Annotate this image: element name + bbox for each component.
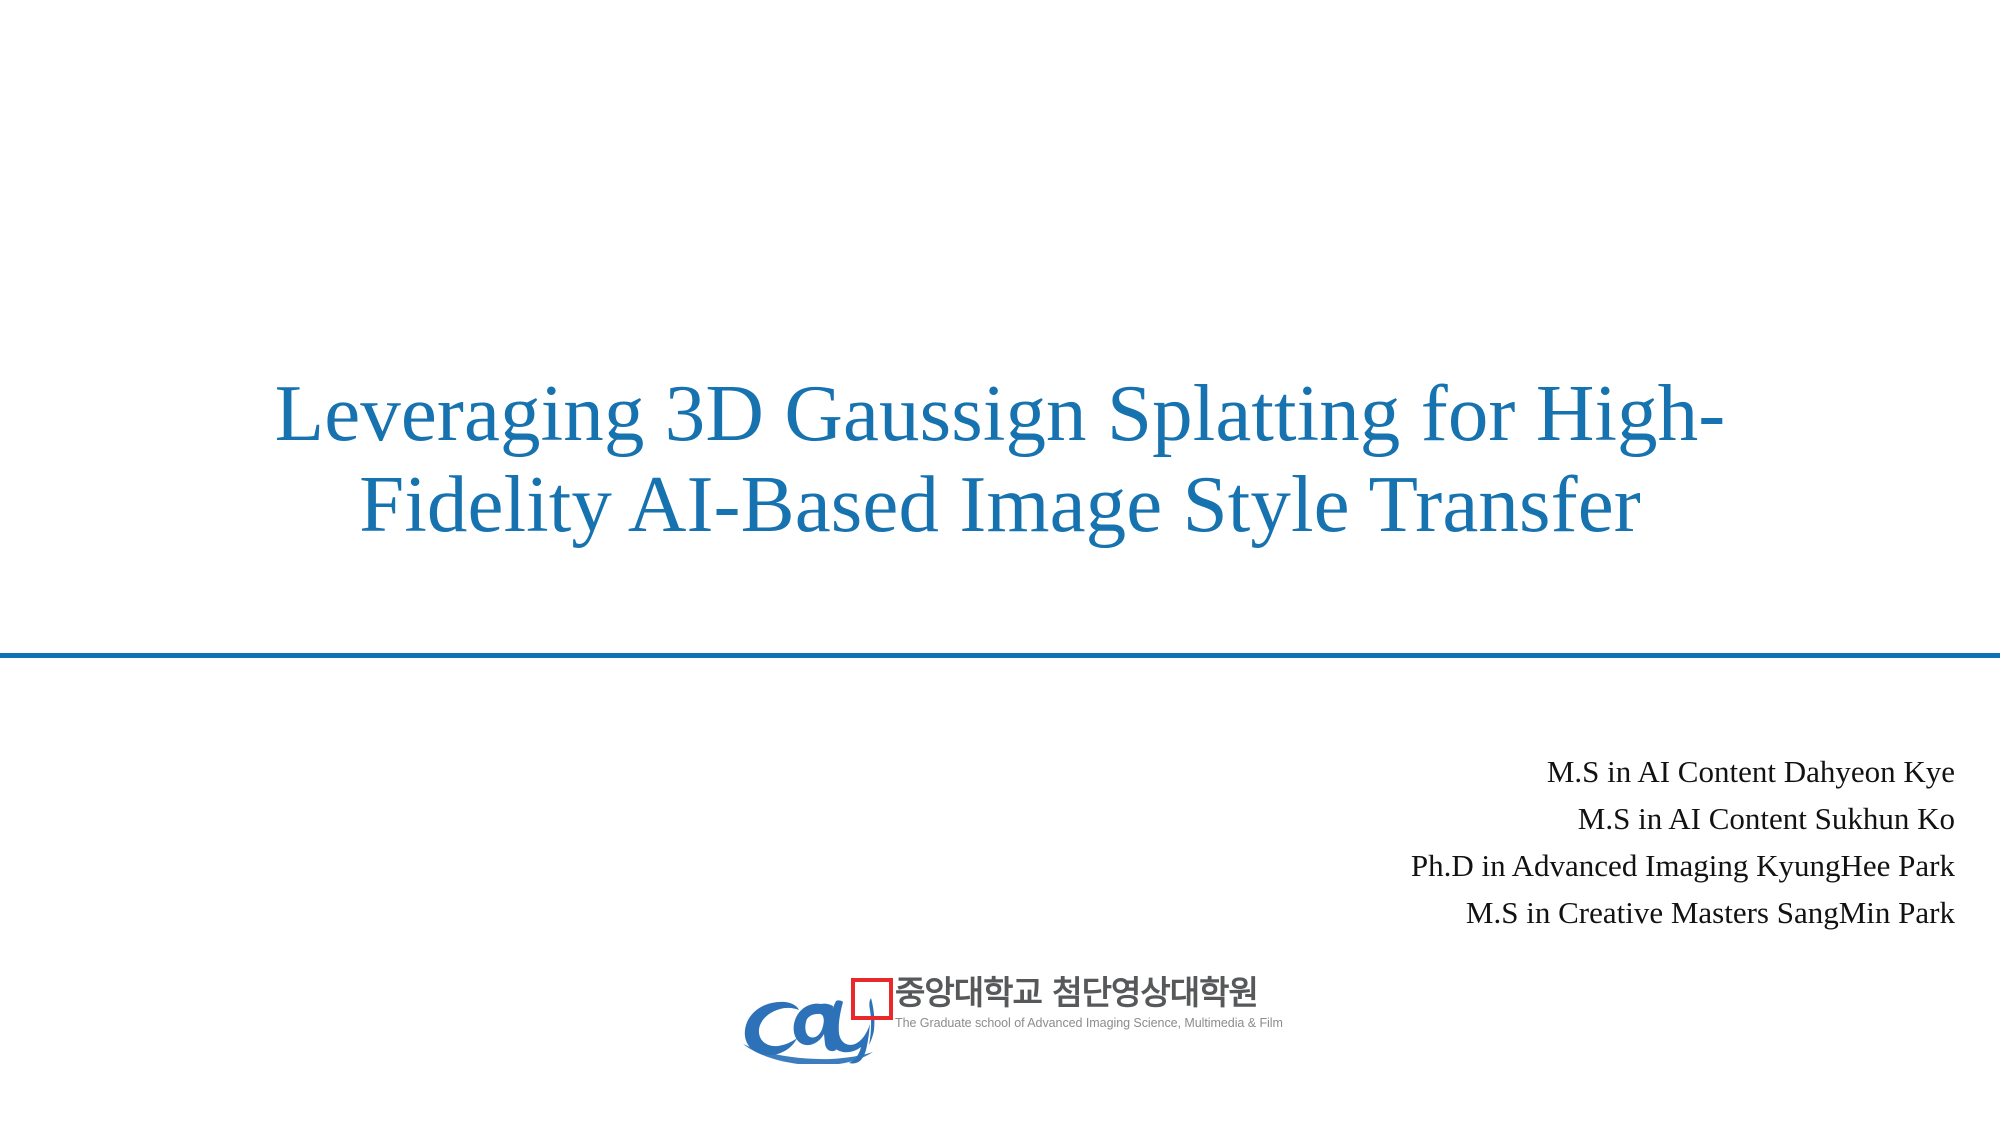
institution-logo: 중앙대학교 첨단영상대학원 The Graduate school of Adv… bbox=[735, 968, 1275, 1068]
author-line-3: Ph.D in Advanced Imaging KyungHee Park bbox=[1411, 842, 1955, 889]
logo-english-name: The Graduate school of Advanced Imaging … bbox=[895, 1015, 1275, 1031]
logo-wordmark: 중앙대학교 첨단영상대학원 The Graduate school of Adv… bbox=[895, 974, 1275, 1031]
author-line-1: M.S in AI Content Dahyeon Kye bbox=[1411, 748, 1955, 795]
logo-korean-name: 중앙대학교 첨단영상대학원 bbox=[895, 974, 1275, 1012]
slide-title: Leveraging 3D Gaussign Splatting for Hig… bbox=[100, 368, 1900, 549]
presentation-slide: Leveraging 3D Gaussign Splatting for Hig… bbox=[0, 0, 2000, 1125]
author-line-2: M.S in AI Content Sukhun Ko bbox=[1411, 795, 1955, 842]
title-line-1: Leveraging 3D Gaussign Splatting for Hig… bbox=[100, 368, 1900, 459]
title-line-2: Fidelity AI-Based Image Style Transfer bbox=[100, 459, 1900, 550]
author-line-4: M.S in Creative Masters SangMin Park bbox=[1411, 889, 1955, 936]
author-list: M.S in AI Content Dahyeon Kye M.S in AI … bbox=[1411, 748, 1955, 936]
cau-brush-logomark-icon bbox=[735, 968, 905, 1064]
title-divider-rule bbox=[0, 653, 2000, 658]
